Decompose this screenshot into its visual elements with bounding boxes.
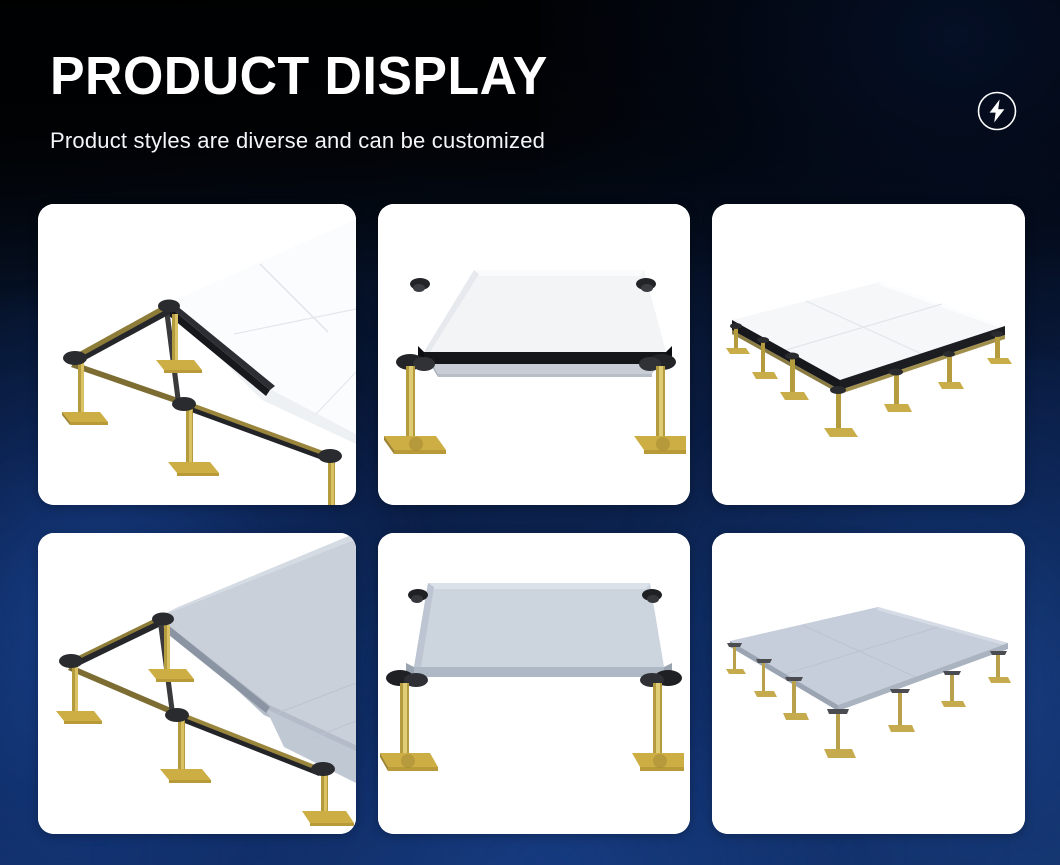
product-image-assembled-deck-white	[712, 204, 1025, 505]
product-image-corner-grid-white	[38, 204, 356, 505]
page-subtitle: Product styles are diverse and can be cu…	[50, 128, 545, 154]
product-card-4[interactable]	[38, 533, 356, 834]
pedestal	[328, 460, 335, 505]
banner-header: PRODUCT DISPLAY Product styles are diver…	[0, 0, 1060, 200]
product-card-2[interactable]	[378, 204, 690, 505]
product-image-single-panel-gray	[378, 533, 690, 834]
page-title: PRODUCT DISPLAY	[50, 48, 548, 105]
product-image-grid	[38, 204, 1023, 834]
product-image-assembled-deck-gray	[712, 533, 1025, 834]
product-image-corner-grid-gray	[38, 533, 356, 834]
product-card-5[interactable]	[378, 533, 690, 834]
product-card-6[interactable]	[712, 533, 1025, 834]
product-card-1[interactable]	[38, 204, 356, 505]
lightning-bolt-circle-icon	[976, 90, 1018, 132]
product-card-3[interactable]	[712, 204, 1025, 505]
product-display-banner: PRODUCT DISPLAY Product styles are diver…	[0, 0, 1060, 865]
product-image-single-panel-black-trim	[378, 204, 690, 505]
